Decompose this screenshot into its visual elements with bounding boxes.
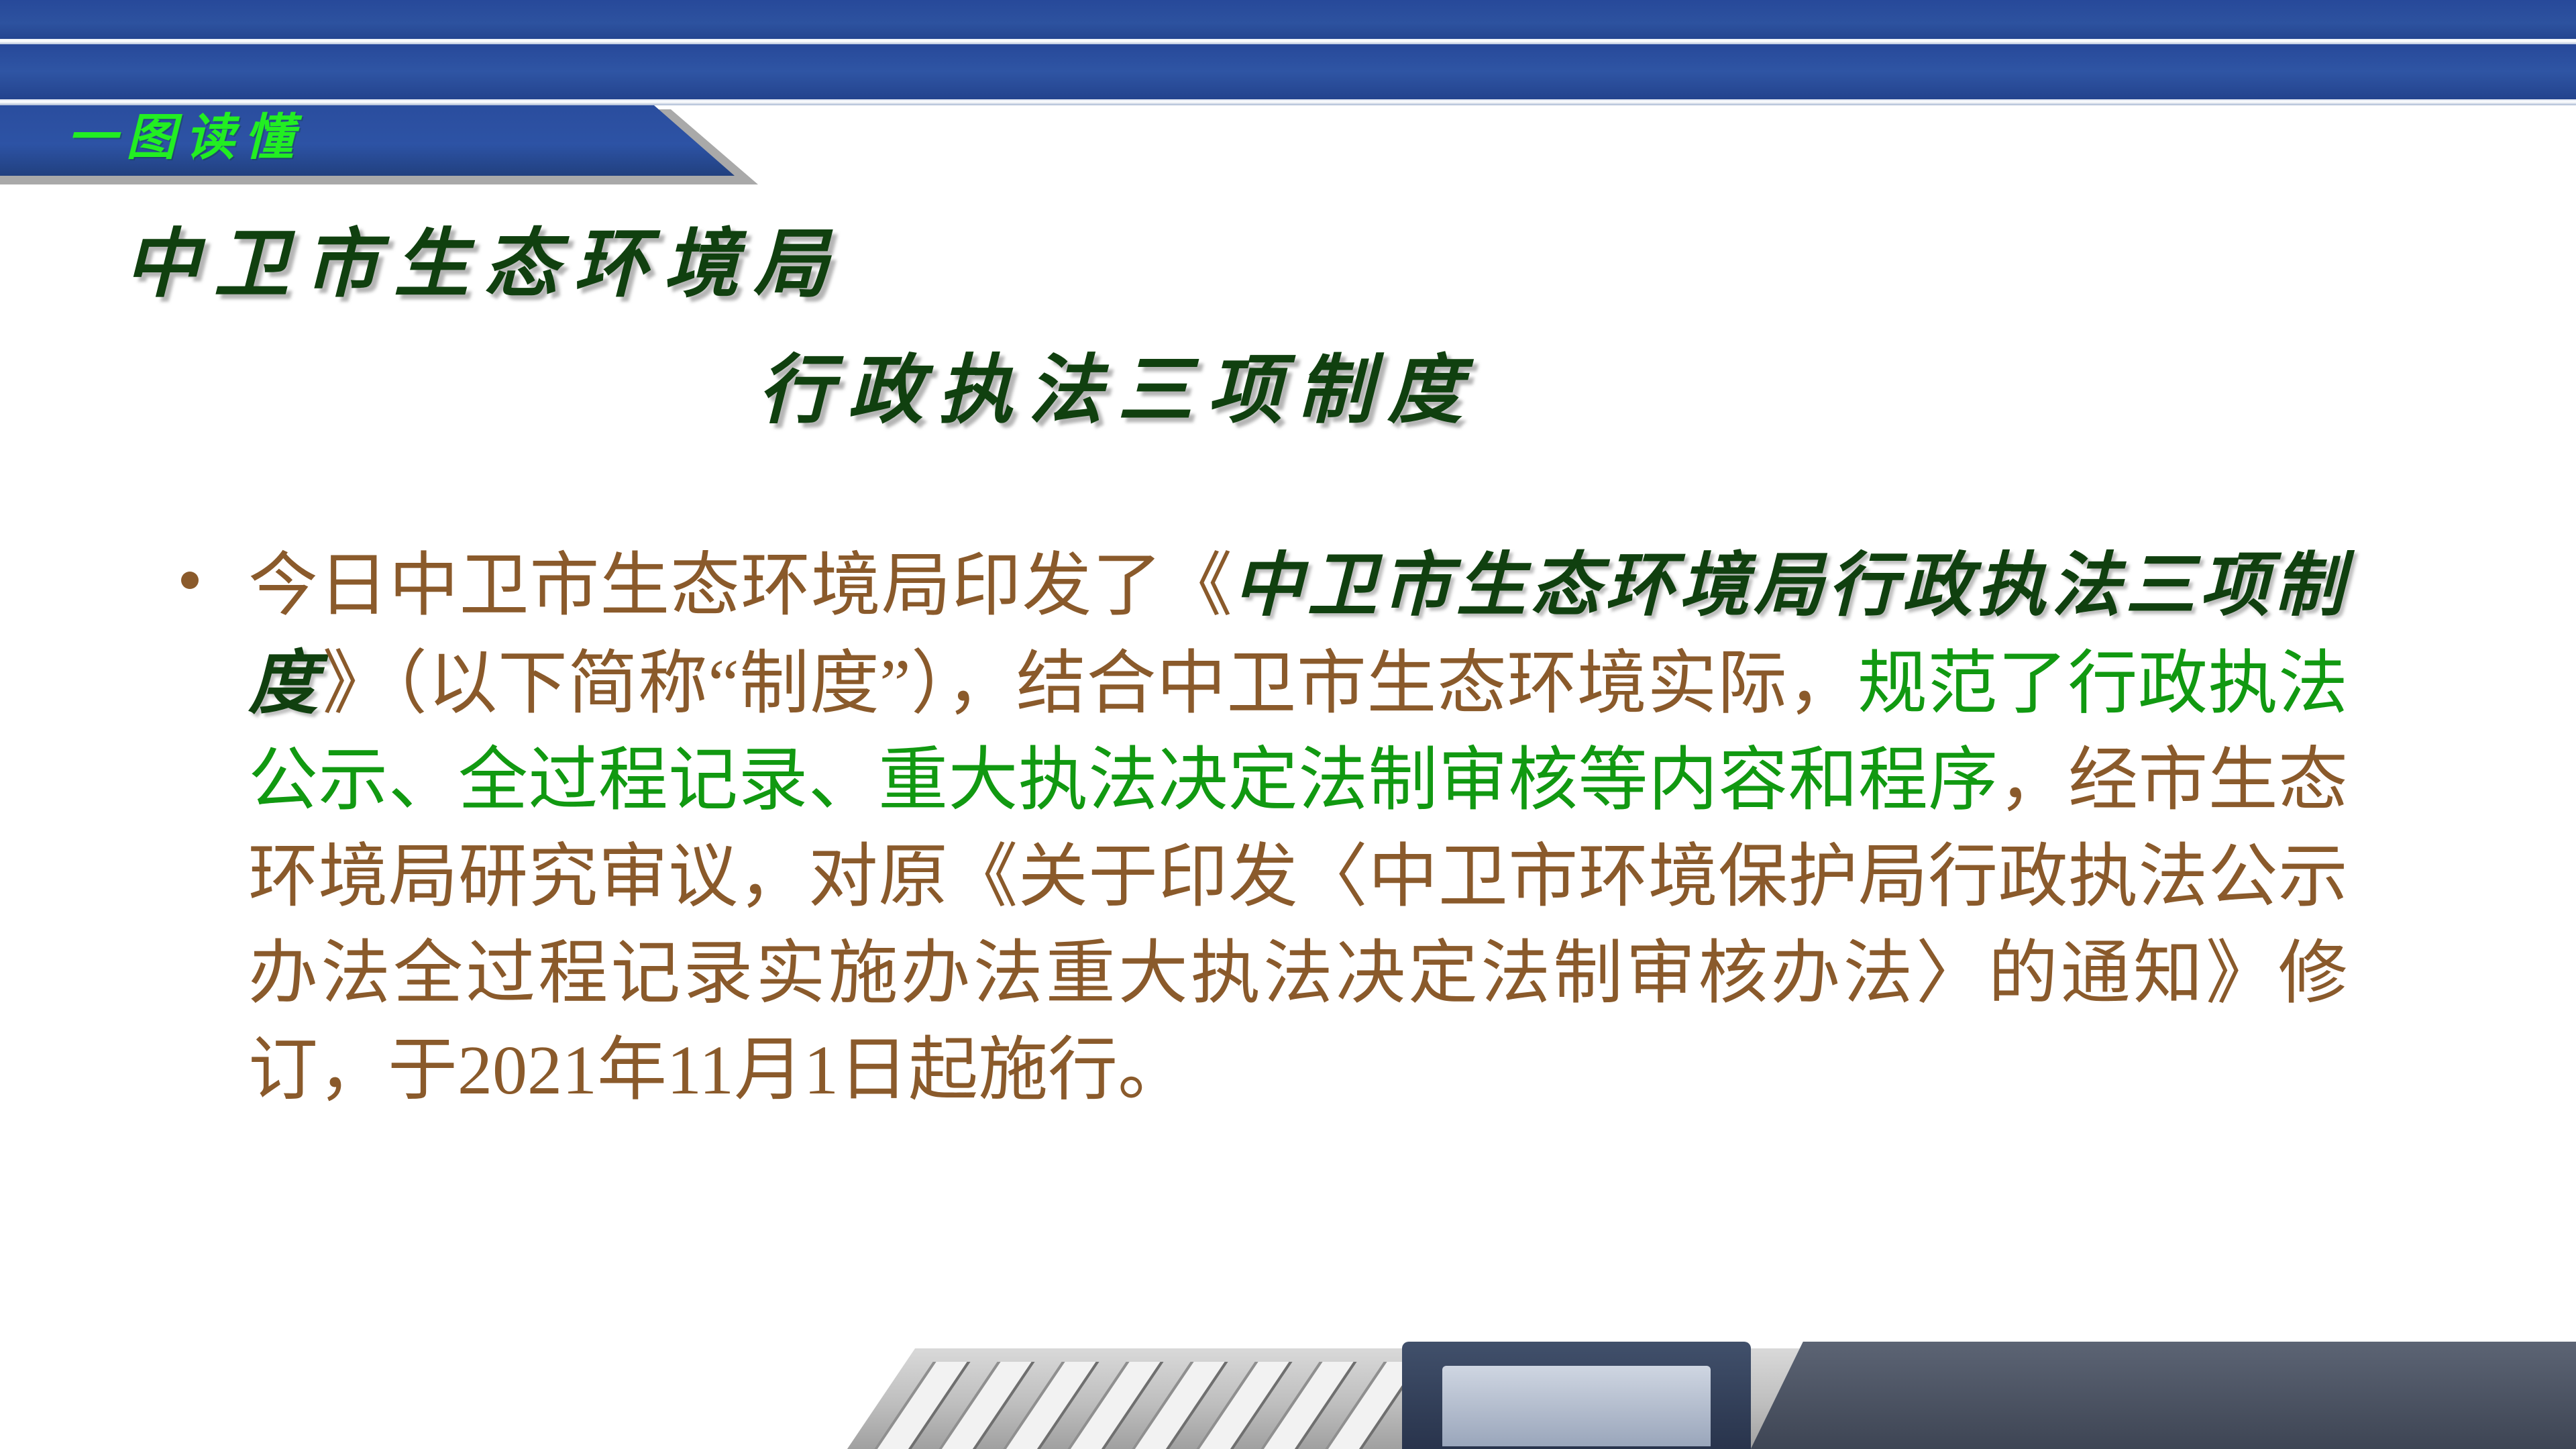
monitor-body-shape <box>1402 1342 1751 1449</box>
monitor-screen-shape <box>1442 1366 1711 1446</box>
banner-hairline-lower <box>0 99 2576 105</box>
banner-hairline-upper <box>0 39 2576 44</box>
page-title-line-1: 中卫市生态环境局 <box>124 221 2576 307</box>
keyboard-keys-shape <box>865 1362 1442 1449</box>
desk-surface-shape <box>829 1348 1854 1449</box>
body-section: 今日中卫市生态环境局印发了《中卫市生态环境局行政执法三项制度》（以下简称“制度”… <box>181 537 2348 1119</box>
body-paragraph: 今日中卫市生态环境局印发了《中卫市生态环境局行政执法三项制度》（以下简称“制度”… <box>248 537 2348 1119</box>
dark-backdrop-shape <box>1744 1342 2576 1449</box>
bullet-point-icon <box>181 572 199 589</box>
banner-band-top <box>0 0 2576 39</box>
page-title-line-2: 行政执法三项制度 <box>758 347 2576 433</box>
page-title: 中卫市生态环境局 行政执法三项制度 <box>0 221 2576 433</box>
banner-band-middle <box>0 44 2576 99</box>
top-banner: 一图读懂 <box>0 0 2576 168</box>
body-segment-alias: 》（以下简称“制度”），结合中卫市生态环境实际， <box>323 645 1858 722</box>
body-segment-intro: 今日中卫市生态环境局印发了《 <box>248 547 1233 625</box>
footer-decoration-image <box>0 1342 2576 1449</box>
banner-tab-label: 一图读懂 <box>67 104 303 171</box>
